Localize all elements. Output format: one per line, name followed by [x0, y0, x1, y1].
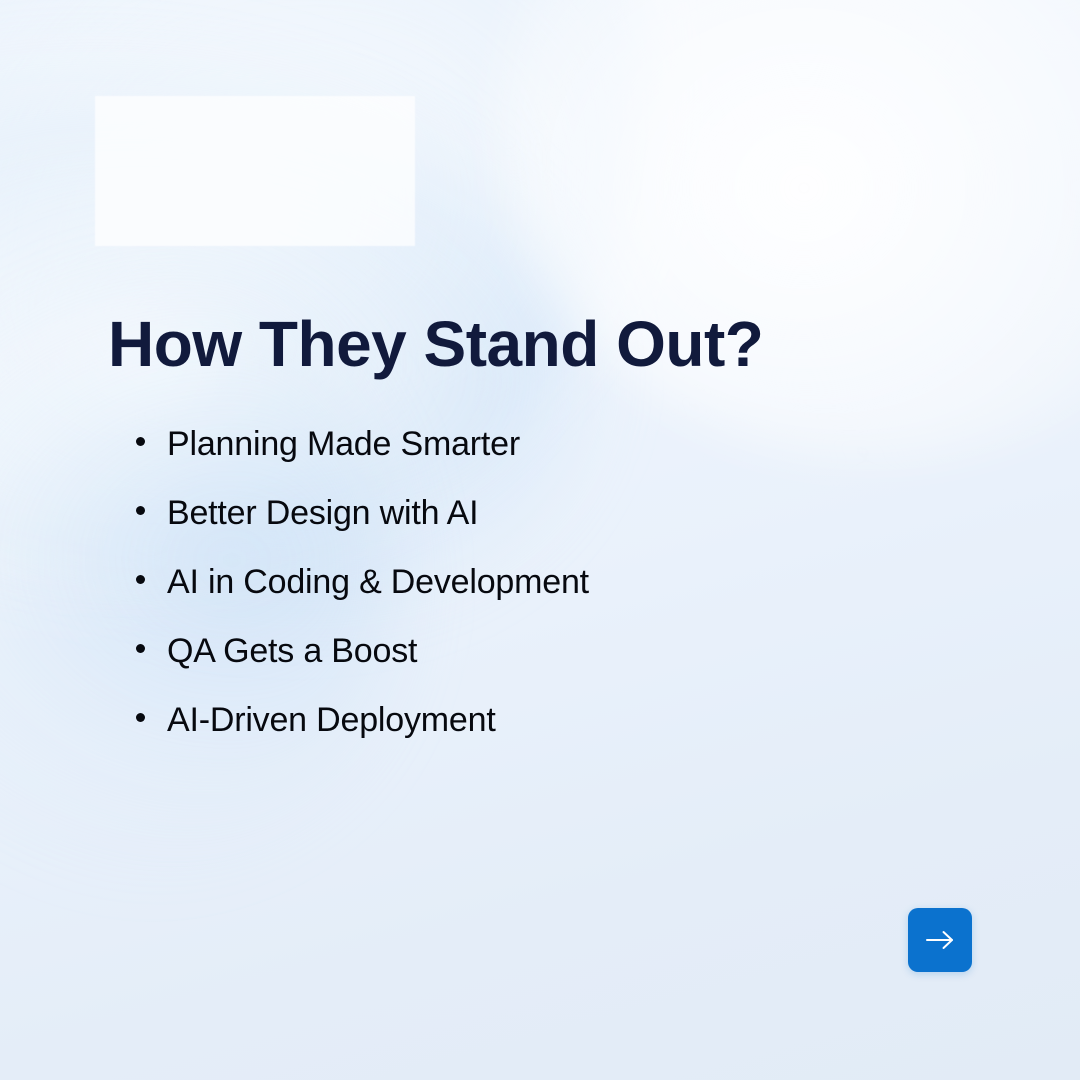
- list-item: Better Design with AI: [136, 490, 956, 559]
- logo-placeholder: [95, 96, 415, 246]
- page-title: How They Stand Out?: [108, 305, 763, 383]
- feature-list: Planning Made Smarter Better Design with…: [136, 421, 956, 766]
- list-item: AI-Driven Deployment: [136, 697, 956, 766]
- list-item: Planning Made Smarter: [136, 421, 956, 490]
- bullet-dot-icon: [136, 575, 145, 584]
- next-slide-button[interactable]: [908, 908, 972, 972]
- list-item-label: AI-Driven Deployment: [167, 697, 496, 743]
- list-item: AI in Coding & Development: [136, 559, 956, 628]
- list-item-label: Better Design with AI: [167, 490, 478, 536]
- list-item: QA Gets a Boost: [136, 628, 956, 697]
- bullet-dot-icon: [136, 506, 145, 515]
- list-item-label: AI in Coding & Development: [167, 559, 589, 605]
- list-item-label: Planning Made Smarter: [167, 421, 520, 467]
- bullet-dot-icon: [136, 644, 145, 653]
- bullet-dot-icon: [136, 437, 145, 446]
- bullet-dot-icon: [136, 713, 145, 722]
- arrow-right-icon: [924, 929, 956, 951]
- list-item-label: QA Gets a Boost: [167, 628, 417, 674]
- slide-canvas: How They Stand Out? Planning Made Smarte…: [0, 0, 1080, 1080]
- glow-top-right: [500, 0, 1080, 460]
